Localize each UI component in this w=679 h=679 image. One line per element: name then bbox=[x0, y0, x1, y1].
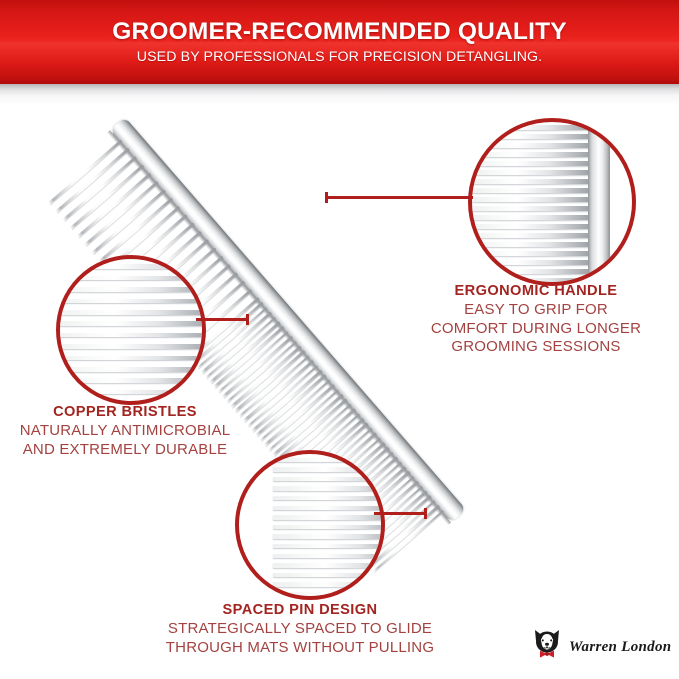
feature-line: COMFORT DURING LONGER bbox=[420, 320, 652, 338]
comb-tooth bbox=[272, 394, 343, 456]
comb-tooth bbox=[205, 316, 276, 378]
comb-tooth bbox=[91, 189, 165, 254]
banner-subtitle: USED BY PROFESSIONALS FOR PRECISION DETA… bbox=[137, 50, 542, 64]
magnified-pin bbox=[273, 486, 381, 490]
connector-line-pins bbox=[374, 512, 427, 515]
dog-face-bowtie-logo bbox=[532, 628, 562, 667]
magnified-pin bbox=[273, 506, 381, 510]
magnified-pin bbox=[60, 264, 202, 269]
feature-line: AND EXTREMELY DURABLE bbox=[0, 441, 250, 459]
comb-tooth bbox=[218, 331, 289, 393]
comb-tooth bbox=[264, 384, 335, 446]
magnified-pin bbox=[60, 390, 202, 395]
magnified-pin bbox=[273, 477, 381, 481]
magnified-pin bbox=[472, 260, 592, 265]
magnified-pin bbox=[273, 496, 381, 500]
magnified-pin bbox=[273, 467, 381, 471]
magnified-pin bbox=[273, 515, 381, 519]
feature-line: GROOMING SESSIONS bbox=[420, 338, 652, 356]
comb-tooth bbox=[84, 181, 158, 246]
comb-tooth bbox=[197, 307, 268, 369]
comb-tooth bbox=[48, 139, 122, 204]
magnified-pin bbox=[273, 525, 381, 529]
magnified-pin bbox=[273, 554, 381, 558]
comb-tooth bbox=[260, 379, 331, 441]
feature-ergonomic-handle: ERGONOMIC HANDLE EASY TO GRIP FOR COMFOR… bbox=[420, 283, 652, 356]
magnified-spine bbox=[588, 122, 610, 282]
magnified-pin bbox=[60, 344, 202, 349]
magnified-pin bbox=[472, 242, 592, 247]
banner-title: GROOMER-RECOMMENDED QUALITY bbox=[112, 20, 567, 45]
comb-tooth bbox=[209, 321, 280, 383]
magnified-pin bbox=[472, 152, 592, 157]
magnified-pin bbox=[273, 544, 381, 548]
comb-tooth bbox=[255, 374, 326, 436]
banner-drop-shadow bbox=[0, 84, 679, 106]
magnified-pin bbox=[472, 179, 592, 184]
connector-cap-handle bbox=[325, 192, 328, 203]
comb-tooth bbox=[247, 365, 318, 427]
magnified-pin bbox=[472, 233, 592, 238]
magnified-pin bbox=[60, 356, 202, 361]
magnified-pin bbox=[273, 573, 381, 577]
comb-tooth bbox=[213, 326, 284, 388]
feature-copper-bristles: COPPER BRISTLES NATURALLY ANTIMICROBIAL … bbox=[0, 404, 250, 459]
comb-tooth bbox=[201, 312, 272, 374]
magnified-pin bbox=[60, 333, 202, 338]
feature-line: EASY TO GRIP FOR bbox=[420, 301, 652, 319]
comb-tooth bbox=[77, 173, 151, 238]
feature-line: STRATEGICALLY SPACED TO GLIDE bbox=[160, 620, 440, 638]
magnified-pin bbox=[273, 534, 381, 538]
handle-closeup-circle bbox=[468, 118, 636, 286]
magnified-pin bbox=[472, 134, 592, 139]
bristles-closeup-content bbox=[60, 259, 202, 401]
comb-tooth bbox=[251, 370, 322, 432]
magnified-pin bbox=[472, 188, 592, 193]
magnified-pin bbox=[60, 378, 202, 383]
magnified-pin bbox=[60, 299, 202, 304]
connector-cap-pins bbox=[424, 508, 427, 519]
bristles-closeup-circle bbox=[56, 255, 206, 405]
magnified-pin bbox=[273, 582, 381, 586]
connector-line-bristles bbox=[196, 318, 249, 321]
magnified-pin bbox=[472, 125, 592, 130]
magnified-pin bbox=[273, 592, 381, 596]
magnified-pin bbox=[60, 321, 202, 326]
comb-tooth bbox=[226, 341, 297, 403]
connector-line-handle bbox=[325, 196, 473, 199]
feature-spaced-pin-design: SPACED PIN DESIGN STRATEGICALLY SPACED T… bbox=[160, 602, 440, 657]
magnified-pin bbox=[472, 161, 592, 166]
pins-closeup-circle bbox=[235, 450, 385, 600]
comb-tooth bbox=[243, 360, 314, 422]
brand-name: Warren London bbox=[569, 639, 671, 656]
feature-title-copper-bristles: COPPER BRISTLES bbox=[0, 404, 250, 421]
handle-closeup-content bbox=[472, 122, 632, 282]
connector-cap-bristles bbox=[246, 314, 249, 325]
magnified-pin bbox=[472, 170, 592, 175]
magnified-pin bbox=[472, 215, 592, 220]
brand-logo: Warren London bbox=[532, 628, 671, 667]
comb-tooth bbox=[55, 148, 129, 213]
feature-line: THROUGH MATS WITHOUT PULLING bbox=[160, 639, 440, 657]
comb-tooth bbox=[222, 336, 293, 398]
magnified-pin bbox=[60, 287, 202, 292]
header-banner: GROOMER-RECOMMENDED QUALITY USED BY PROF… bbox=[0, 0, 679, 84]
magnified-pin bbox=[60, 276, 202, 281]
magnified-pin bbox=[472, 251, 592, 256]
magnified-pin bbox=[472, 224, 592, 229]
magnified-pin bbox=[472, 143, 592, 148]
feature-line: NATURALLY ANTIMICROBIAL bbox=[0, 422, 250, 440]
comb-tooth bbox=[230, 345, 301, 407]
pins-closeup-content bbox=[239, 454, 381, 596]
magnified-pin bbox=[472, 278, 592, 282]
magnified-pin bbox=[472, 197, 592, 202]
magnified-pin bbox=[60, 310, 202, 315]
comb-tooth bbox=[268, 389, 339, 451]
feature-title-ergonomic-handle: ERGONOMIC HANDLE bbox=[420, 283, 652, 300]
feature-title-spaced-pin-design: SPACED PIN DESIGN bbox=[160, 602, 440, 619]
magnified-pin bbox=[273, 563, 381, 567]
product-infographic: GROOMER-RECOMMENDED QUALITY USED BY PROF… bbox=[0, 0, 679, 679]
magnified-pin bbox=[472, 206, 592, 211]
comb-tooth bbox=[70, 164, 144, 229]
comb-tooth bbox=[63, 156, 137, 221]
magnified-pin bbox=[273, 458, 381, 462]
comb-tooth bbox=[99, 198, 173, 263]
magnified-pin bbox=[60, 367, 202, 372]
magnified-pin bbox=[472, 269, 592, 274]
